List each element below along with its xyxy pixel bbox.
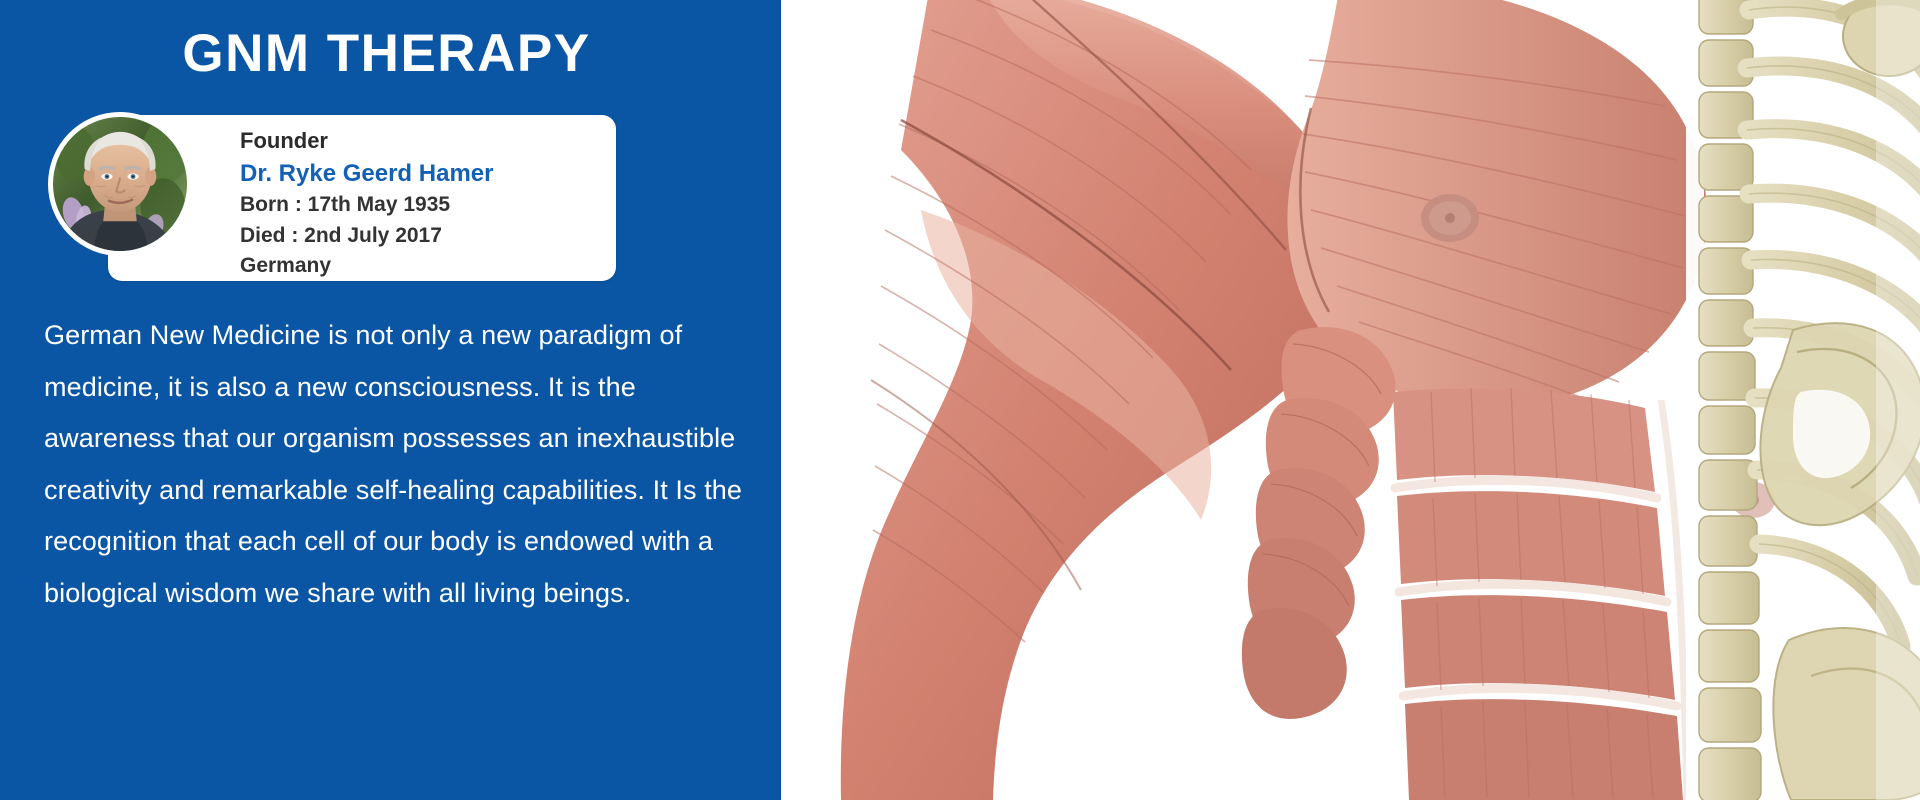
founder-role-label: Founder	[240, 125, 606, 157]
page-title: GNM THERAPY	[0, 26, 781, 82]
founder-died: Died : 2nd July 2017	[240, 221, 606, 251]
poster-canvas: GNM THERAPY Founder Dr. Ryke Geerd Hamer…	[0, 0, 1920, 800]
avatar	[48, 112, 192, 256]
founder-born: Born : 17th May 1935	[240, 190, 606, 220]
founder-card-text: Founder Dr. Ryke Geerd Hamer Born : 17th…	[240, 125, 606, 281]
info-panel: GNM THERAPY Founder Dr. Ryke Geerd Hamer…	[0, 0, 781, 800]
anatomy-illustration	[781, 0, 1920, 800]
description-text: German New Medicine is not only a new pa…	[44, 310, 774, 619]
founder-name: Dr. Ryke Geerd Hamer	[240, 157, 606, 191]
founder-country: Germany	[240, 251, 606, 281]
